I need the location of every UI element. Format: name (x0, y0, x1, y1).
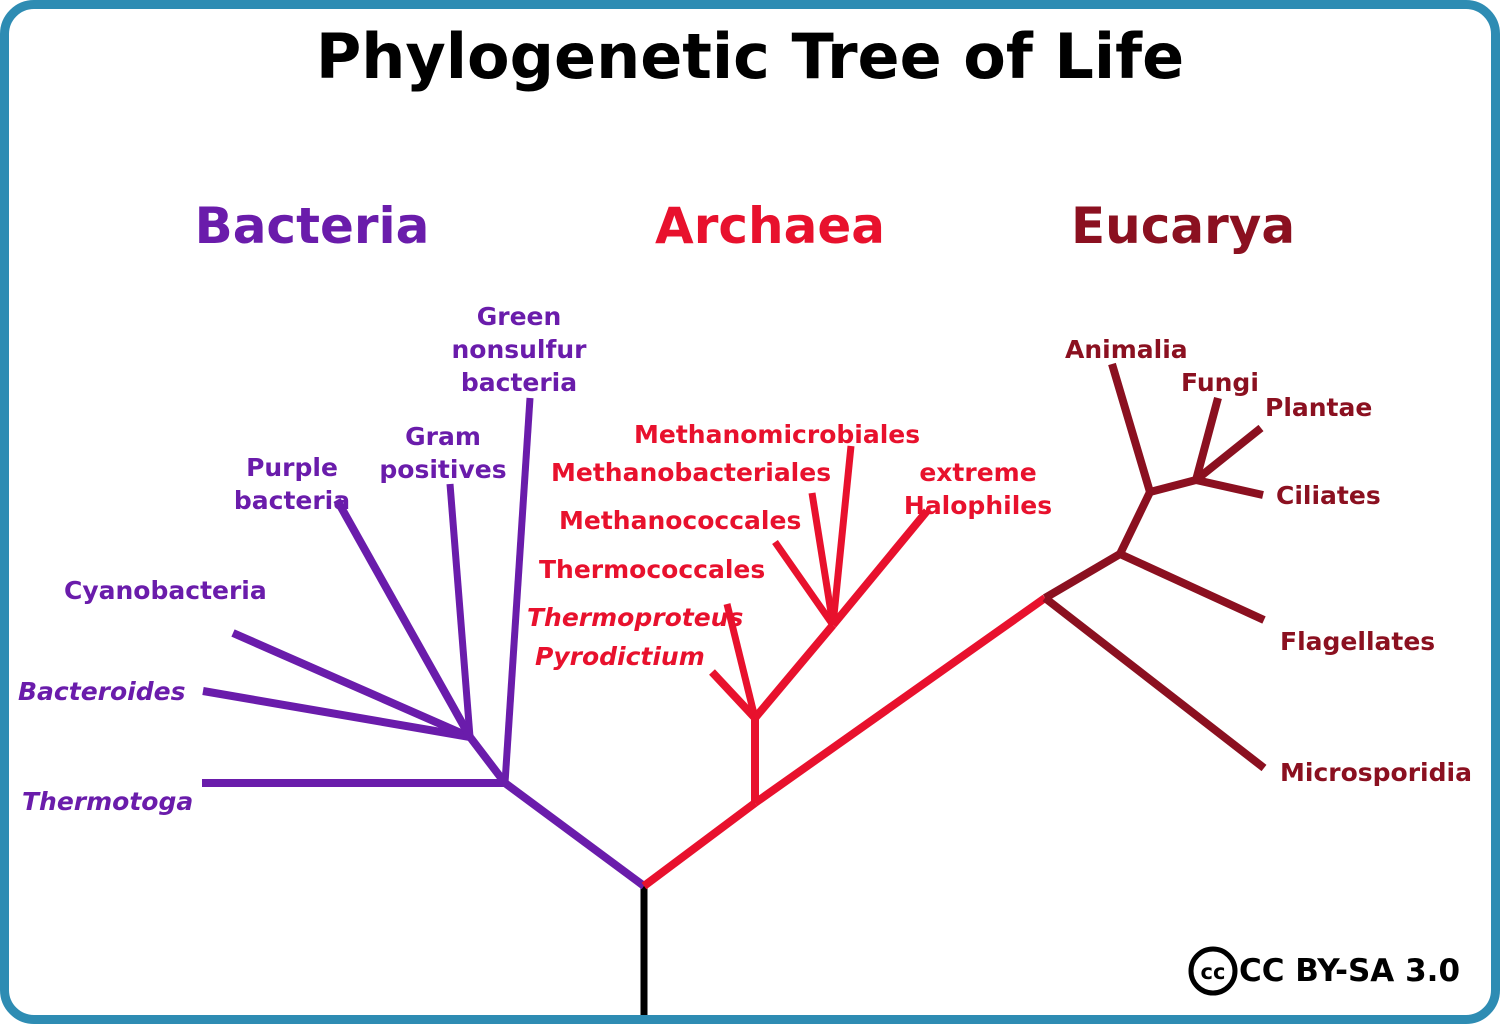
taxon-label-line: Purple (246, 453, 338, 482)
phylogenetic-tree-figure: Phylogenetic Tree of Life BacteriaArchae… (0, 0, 1500, 1024)
taxon-label-line: Green (477, 302, 562, 331)
taxon-label-animalia: Animalia (1065, 335, 1188, 364)
license-text: CC BY-SA 3.0 (1239, 953, 1460, 989)
taxon-label-line: Thermococcales (539, 555, 765, 584)
taxon-label-pyrodictium: Pyrodictium (535, 642, 705, 671)
cc-mark-label: cc (1201, 960, 1226, 984)
taxon-label-bacteroides: Bacteroides (18, 677, 185, 706)
taxon-label-methanomicrobiales: Methanomicrobiales (634, 420, 920, 449)
page-title: Phylogenetic Tree of Life (316, 20, 1184, 93)
taxon-label-line: Thermoproteus (527, 603, 743, 632)
taxon-label-thermotoga: Thermotoga (22, 787, 193, 816)
taxon-label-line: Cyanobacteria (64, 576, 267, 605)
taxon-label-line: bacteria (234, 486, 350, 515)
taxon-label-line: Methanomicrobiales (634, 420, 920, 449)
taxon-label-flagellates: Flagellates (1280, 627, 1435, 656)
taxon-label-methanococcales: Methanococcales (559, 506, 801, 535)
taxon-label-line: Methanococcales (559, 506, 801, 535)
domain-header-eucarya: Eucarya (1071, 197, 1295, 255)
taxon-label-thermococcales: Thermococcales (539, 555, 765, 584)
taxon-label-microsporidia: Microsporidia (1280, 758, 1472, 787)
taxon-label-methanobacteriales: Methanobacteriales (551, 458, 831, 487)
taxon-label-line: Halophiles (904, 491, 1052, 520)
taxon-label-plantae: Plantae (1265, 393, 1372, 422)
taxon-label-line: positives (379, 455, 506, 484)
taxon-label-line: Gram (405, 422, 481, 451)
taxon-label-ciliates: Ciliates (1276, 481, 1381, 510)
tree-canvas: Phylogenetic Tree of Life BacteriaArchae… (0, 0, 1500, 1024)
taxon-label-thermoproteus: Thermoproteus (527, 603, 743, 632)
taxon-label-line: nonsulfur (451, 335, 587, 364)
domain-header-archaea: Archaea (655, 197, 885, 255)
taxon-label-line: Ciliates (1276, 481, 1381, 510)
domain-header-bacteria: Bacteria (195, 197, 430, 255)
taxon-label-line: bacteria (461, 368, 577, 397)
taxon-label-line: Animalia (1065, 335, 1188, 364)
taxon-label-line: Thermotoga (22, 787, 193, 816)
taxon-label-line: extreme (919, 458, 1036, 487)
taxon-label-line: Plantae (1265, 393, 1372, 422)
taxon-label-line: Flagellates (1280, 627, 1435, 656)
taxon-label-line: Fungi (1181, 368, 1259, 397)
taxon-label-fungi: Fungi (1181, 368, 1259, 397)
taxon-label-cyanobacteria: Cyanobacteria (64, 576, 267, 605)
domain-headers: BacteriaArchaeaEucarya (195, 197, 1295, 255)
taxon-label-line: Bacteroides (18, 677, 185, 706)
taxon-label-line: Pyrodictium (535, 642, 705, 671)
taxon-label-line: Microsporidia (1280, 758, 1472, 787)
taxon-label-line: Methanobacteriales (551, 458, 831, 487)
